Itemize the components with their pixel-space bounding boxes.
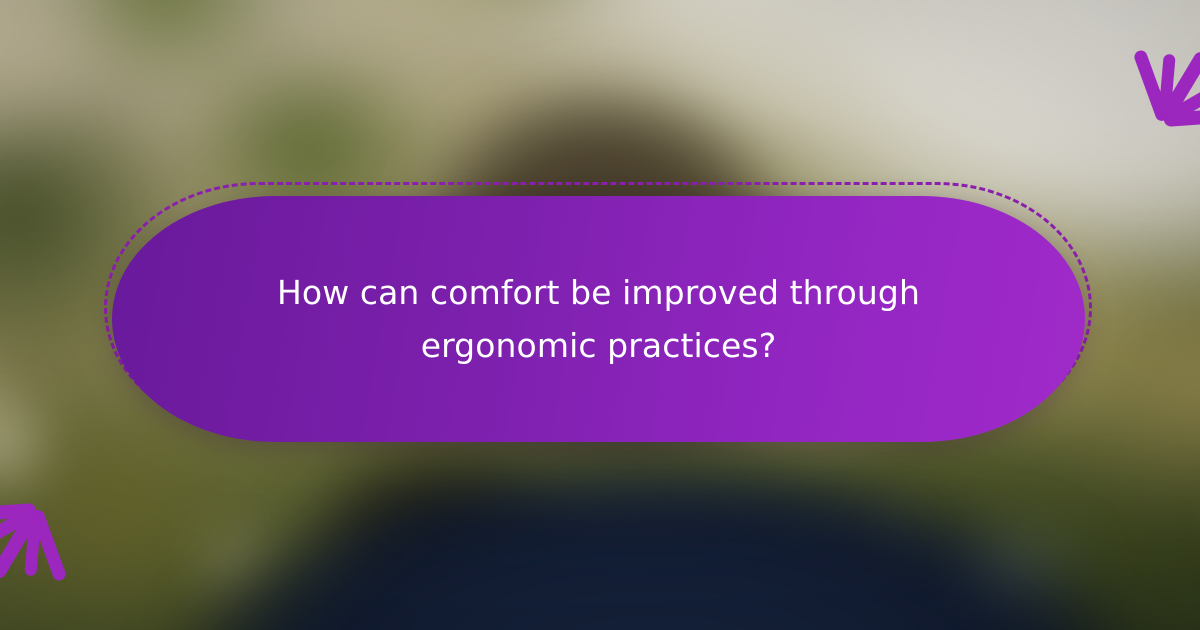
question-line-2: ergonomic practices? bbox=[421, 326, 777, 365]
sparkle-burst-top-right-icon bbox=[1036, 2, 1196, 152]
question-card: How can comfort be improved through ergo… bbox=[112, 196, 1085, 442]
question-line-1: How can comfort be improved through bbox=[277, 273, 920, 312]
sparkle-burst-bottom-left-icon bbox=[4, 478, 164, 628]
question-card-graphic: How can comfort be improved through ergo… bbox=[0, 0, 1200, 630]
question-text: How can comfort be improved through ergo… bbox=[219, 266, 979, 373]
